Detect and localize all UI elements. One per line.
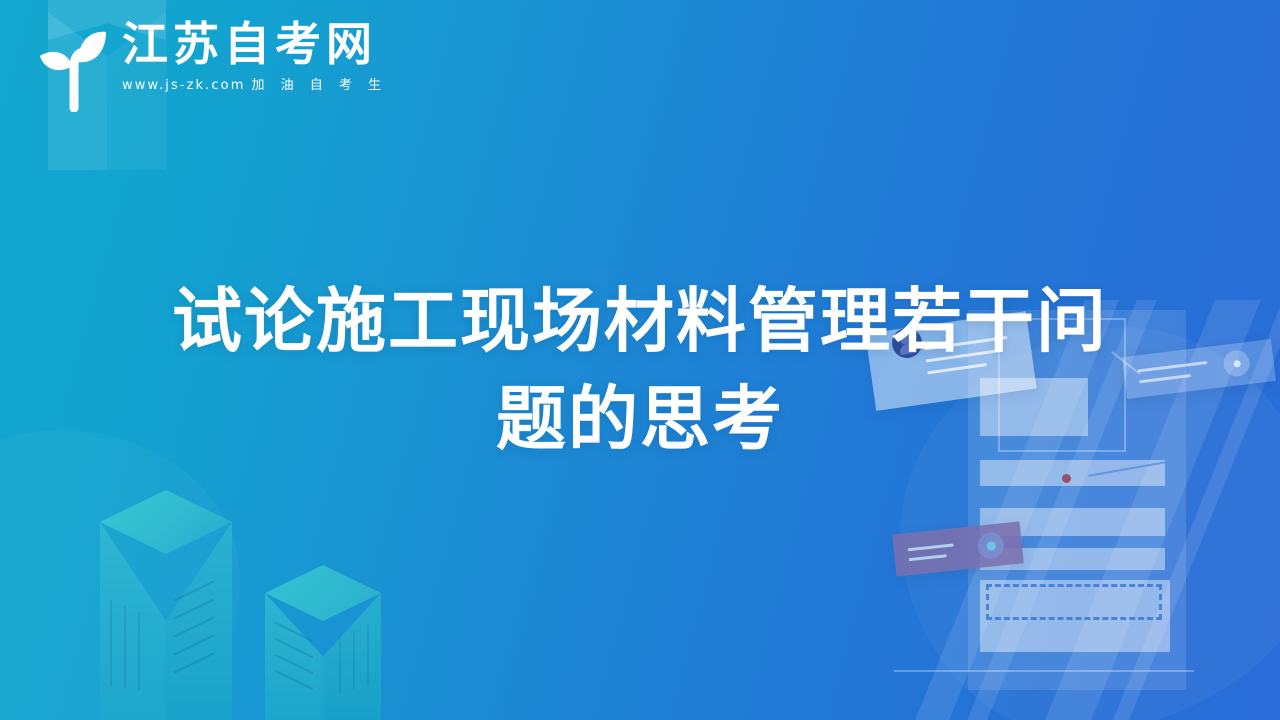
tag-card-purple [892,521,1024,576]
site-url: www.js-zk.com [122,78,245,93]
site-slogan: 加 油 自 考 生 [251,78,387,93]
document-row [980,580,1170,652]
document-row [980,508,1165,536]
dashed-placeholder-box [986,584,1162,620]
article-title-banner: 江苏自考网 www.js-zk.com加 油 自 考 生 试论施工现场材料管理若… [0,0,1280,720]
isometric-building-icon-short [265,565,381,720]
site-name: 江苏自考网 [122,16,387,72]
page-title: 试论施工现场材料管理若干问题的思考 [0,272,1280,468]
site-logo[interactable]: 江苏自考网 www.js-zk.com加 油 自 考 生 [34,16,387,112]
isometric-building-icon-tall [100,490,232,720]
site-url-slogan: www.js-zk.com加 油 自 考 生 [122,76,387,96]
sprout-leaf-icon [34,20,118,112]
ground-line [894,670,1194,672]
accent-dot [1062,474,1071,483]
document-row [980,548,1165,570]
background-blob-left [0,430,240,720]
